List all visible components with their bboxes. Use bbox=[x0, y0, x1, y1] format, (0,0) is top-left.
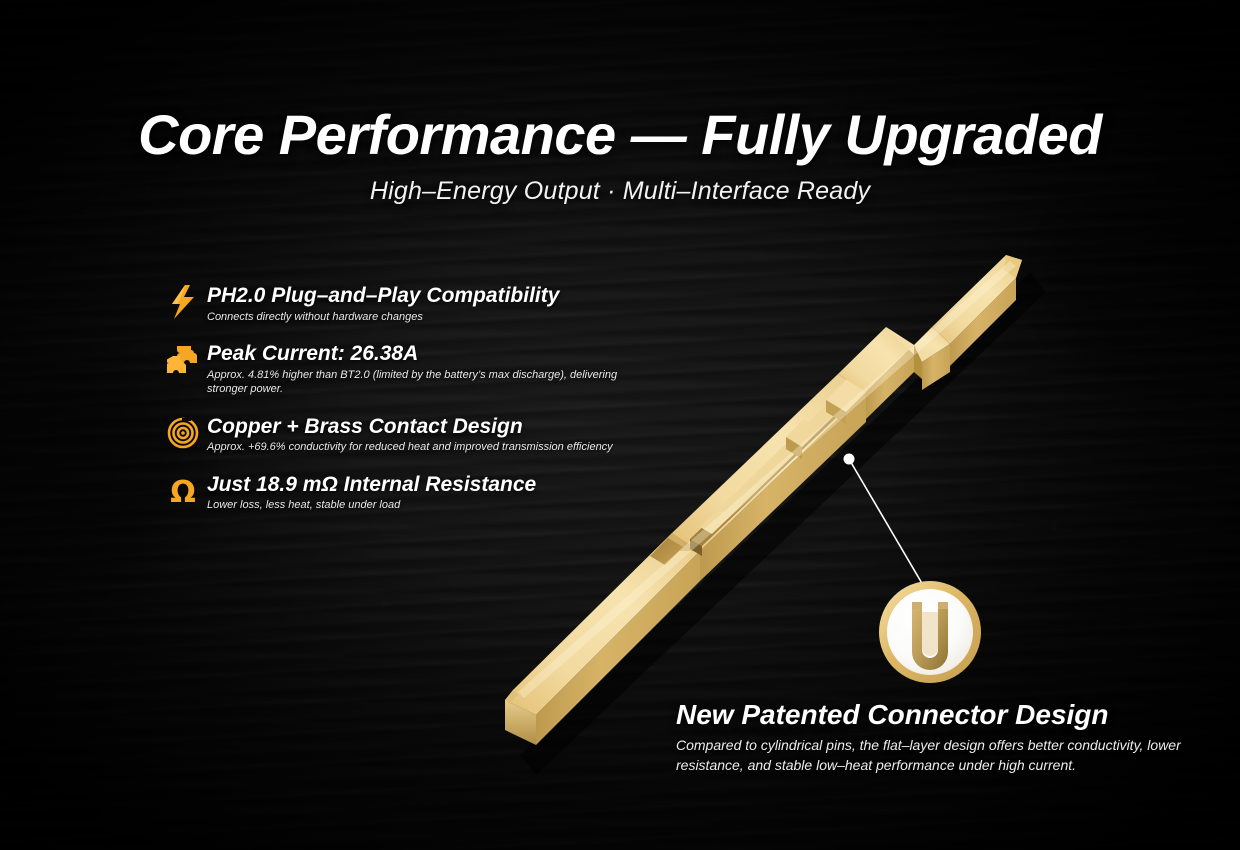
feature-item: Peak Current: 26.38A Approx. 4.81% highe… bbox=[163, 341, 633, 397]
feature-list: PH2.0 Plug–and–Play Compatibility Connec… bbox=[163, 283, 633, 530]
caption-block: New Patented Connector Design Compared t… bbox=[676, 700, 1221, 775]
heading-block: Core Performance — Fully Upgraded High–E… bbox=[0, 106, 1240, 206]
omega-resistance-icon: Ω bbox=[163, 473, 203, 509]
feature-desc: Connects directly without hardware chang… bbox=[207, 310, 559, 325]
feature-desc: Approx. 4.81% higher than BT2.0 (limited… bbox=[207, 368, 627, 397]
feature-item: Copper + Brass Contact Design Approx. +6… bbox=[163, 414, 633, 455]
feature-title: Copper + Brass Contact Design bbox=[207, 415, 627, 439]
feature-desc: Lower loss, less heat, stable under load bbox=[207, 498, 536, 513]
feature-text: Peak Current: 26.38A Approx. 4.81% highe… bbox=[203, 341, 627, 397]
caption-title: New Patented Connector Design bbox=[676, 700, 1221, 731]
page-subtitle: High–Energy Output · Multi–Interface Rea… bbox=[0, 177, 1240, 206]
feature-text: Just 18.9 mΩ Internal Resistance Lower l… bbox=[203, 472, 536, 513]
feature-item: Ω Just 18.9 mΩ Internal Resistance Lower… bbox=[163, 472, 633, 513]
lightning-bolt-icon bbox=[163, 284, 203, 320]
svg-text:Ω: Ω bbox=[170, 475, 196, 508]
page-title: Core Performance — Fully Upgraded bbox=[0, 106, 1240, 165]
puzzle-pieces-icon bbox=[163, 342, 203, 378]
caption-desc: Compared to cylindrical pins, the flat–l… bbox=[676, 735, 1221, 776]
concentric-spiral-icon bbox=[163, 415, 203, 451]
feature-text: Copper + Brass Contact Design Approx. +6… bbox=[203, 414, 627, 455]
callout-leader-line bbox=[849, 459, 930, 597]
u-channel-profile-icon bbox=[912, 602, 948, 670]
feature-title: Peak Current: 26.38A bbox=[207, 342, 627, 366]
product-feature-banner: Core Performance — Fully Upgraded High–E… bbox=[0, 0, 1240, 850]
feature-desc: Approx. +69.6% conductivity for reduced … bbox=[207, 440, 627, 455]
callout-anchor-dot bbox=[844, 454, 855, 465]
feature-title: PH2.0 Plug–and–Play Compatibility bbox=[207, 284, 559, 308]
feature-title: Just 18.9 mΩ Internal Resistance bbox=[207, 473, 536, 497]
feature-text: PH2.0 Plug–and–Play Compatibility Connec… bbox=[203, 283, 559, 324]
feature-item: PH2.0 Plug–and–Play Compatibility Connec… bbox=[163, 283, 633, 324]
